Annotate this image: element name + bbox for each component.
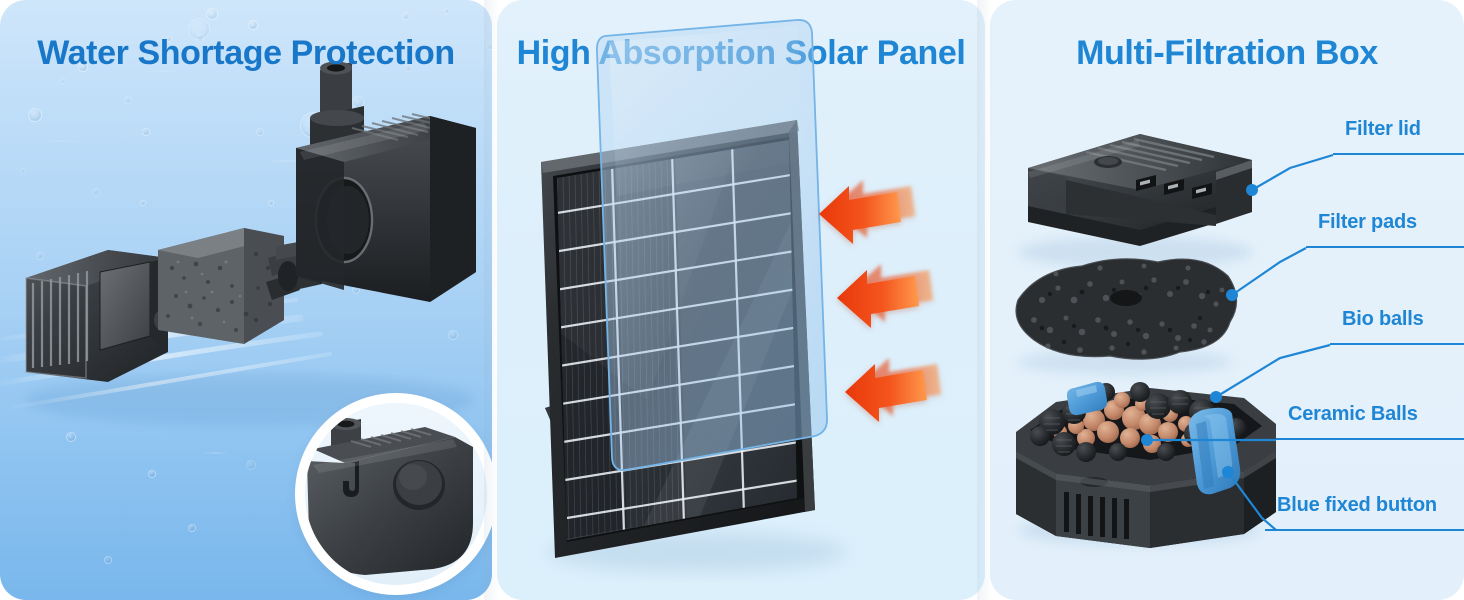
callout-rule-filter-lid xyxy=(1333,153,1464,155)
callout-rule-bio-balls xyxy=(1330,343,1464,345)
callout-label-bio-balls: Bio balls xyxy=(1342,308,1424,331)
sunlight-arrow-2 xyxy=(837,264,933,328)
pump-sensor-closeup xyxy=(305,403,487,585)
callout-label-filter-lid: Filter lid xyxy=(1345,118,1421,141)
filter-pad-part xyxy=(1016,259,1237,375)
callout-rule-filter-pads xyxy=(1306,246,1464,248)
filtration-basket-part xyxy=(1016,382,1276,548)
filter-lid-part xyxy=(1017,134,1253,268)
dot-blue-fixed-button xyxy=(1222,466,1234,478)
sunlight-arrow-3 xyxy=(845,358,941,422)
infographic-root: Water Shortage Protection High Absorptio… xyxy=(0,0,1464,600)
dot-ceramic-balls xyxy=(1141,434,1153,446)
dot-filter-pads xyxy=(1226,289,1238,301)
callout-label-filter-pads: Filter pads xyxy=(1318,211,1417,234)
callout-label-ceramic-balls: Ceramic Balls xyxy=(1288,403,1418,426)
dot-bio-balls xyxy=(1210,391,1222,403)
glass-absorption-overlay xyxy=(597,20,827,470)
panel-water-shortage-protection: Water Shortage Protection xyxy=(0,0,492,600)
pump-detail-inset xyxy=(300,398,492,590)
leader-filter-lid xyxy=(1252,155,1333,190)
panel-title-water-shortage: Water Shortage Protection xyxy=(0,34,492,73)
solar-panel-illustration xyxy=(497,0,985,600)
sunlight-arrow-1 xyxy=(819,180,915,244)
pump-intake-strainer xyxy=(26,250,168,382)
callout-label-blue-fixed-button: Blue fixed button xyxy=(1277,494,1437,517)
callout-rule-blue-fixed-button xyxy=(1265,529,1464,531)
pump-main-body xyxy=(296,62,476,303)
pump-foam-sponge xyxy=(158,228,284,344)
leader-bio-balls xyxy=(1216,345,1330,397)
callout-rule-ceramic-balls xyxy=(1276,438,1464,440)
dot-filter-lid xyxy=(1246,184,1258,196)
